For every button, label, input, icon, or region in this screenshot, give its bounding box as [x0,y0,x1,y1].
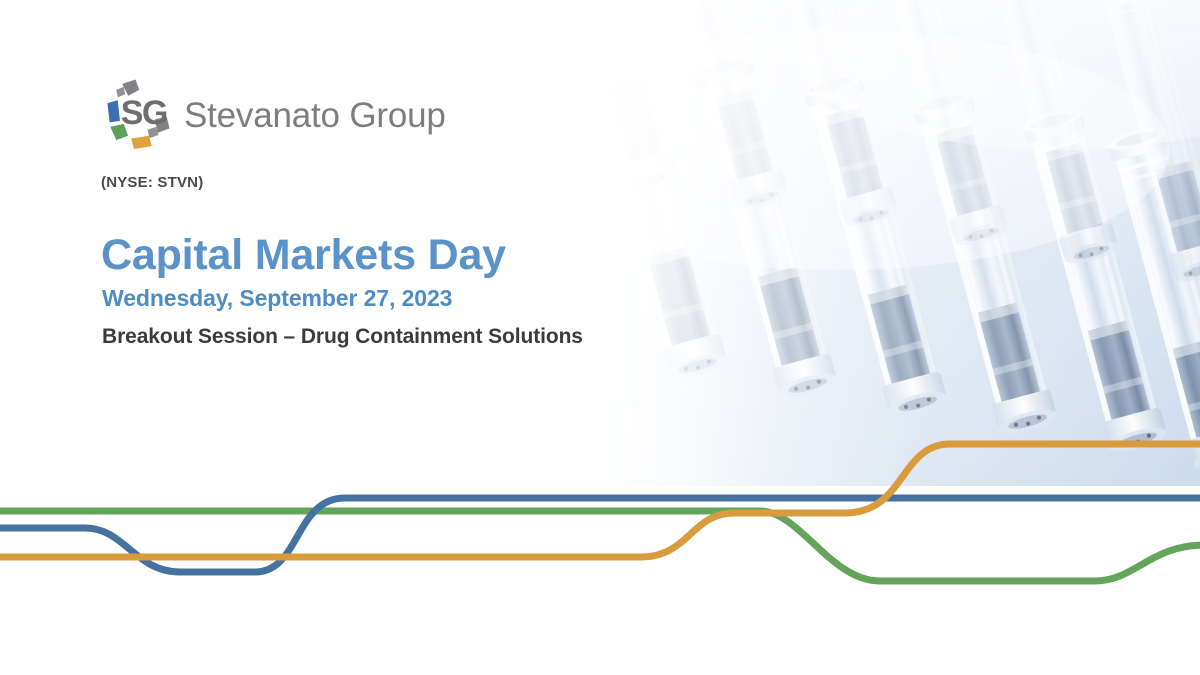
blue-ribbon [0,498,1200,572]
svg-text:SG: SG [121,94,167,132]
event-date: Wednesday, September 27, 2023 [102,285,452,312]
green-ribbon [0,511,1200,581]
slide-root: SG Stevanato Group (NYSE: STVN) Capital … [0,0,1200,675]
brand-wordmark: Stevanato Group [184,98,446,133]
stock-ticker: (NYSE: STVN) [101,174,203,191]
page-title: Capital Markets Day [101,232,506,278]
syringe-array-photo [540,0,1200,486]
brand-logo: SG Stevanato Group [100,78,446,152]
session-subtitle: Breakout Session – Drug Containment Solu… [102,325,583,349]
stevanato-group-gear-sg-logo-icon: SG [100,78,174,152]
